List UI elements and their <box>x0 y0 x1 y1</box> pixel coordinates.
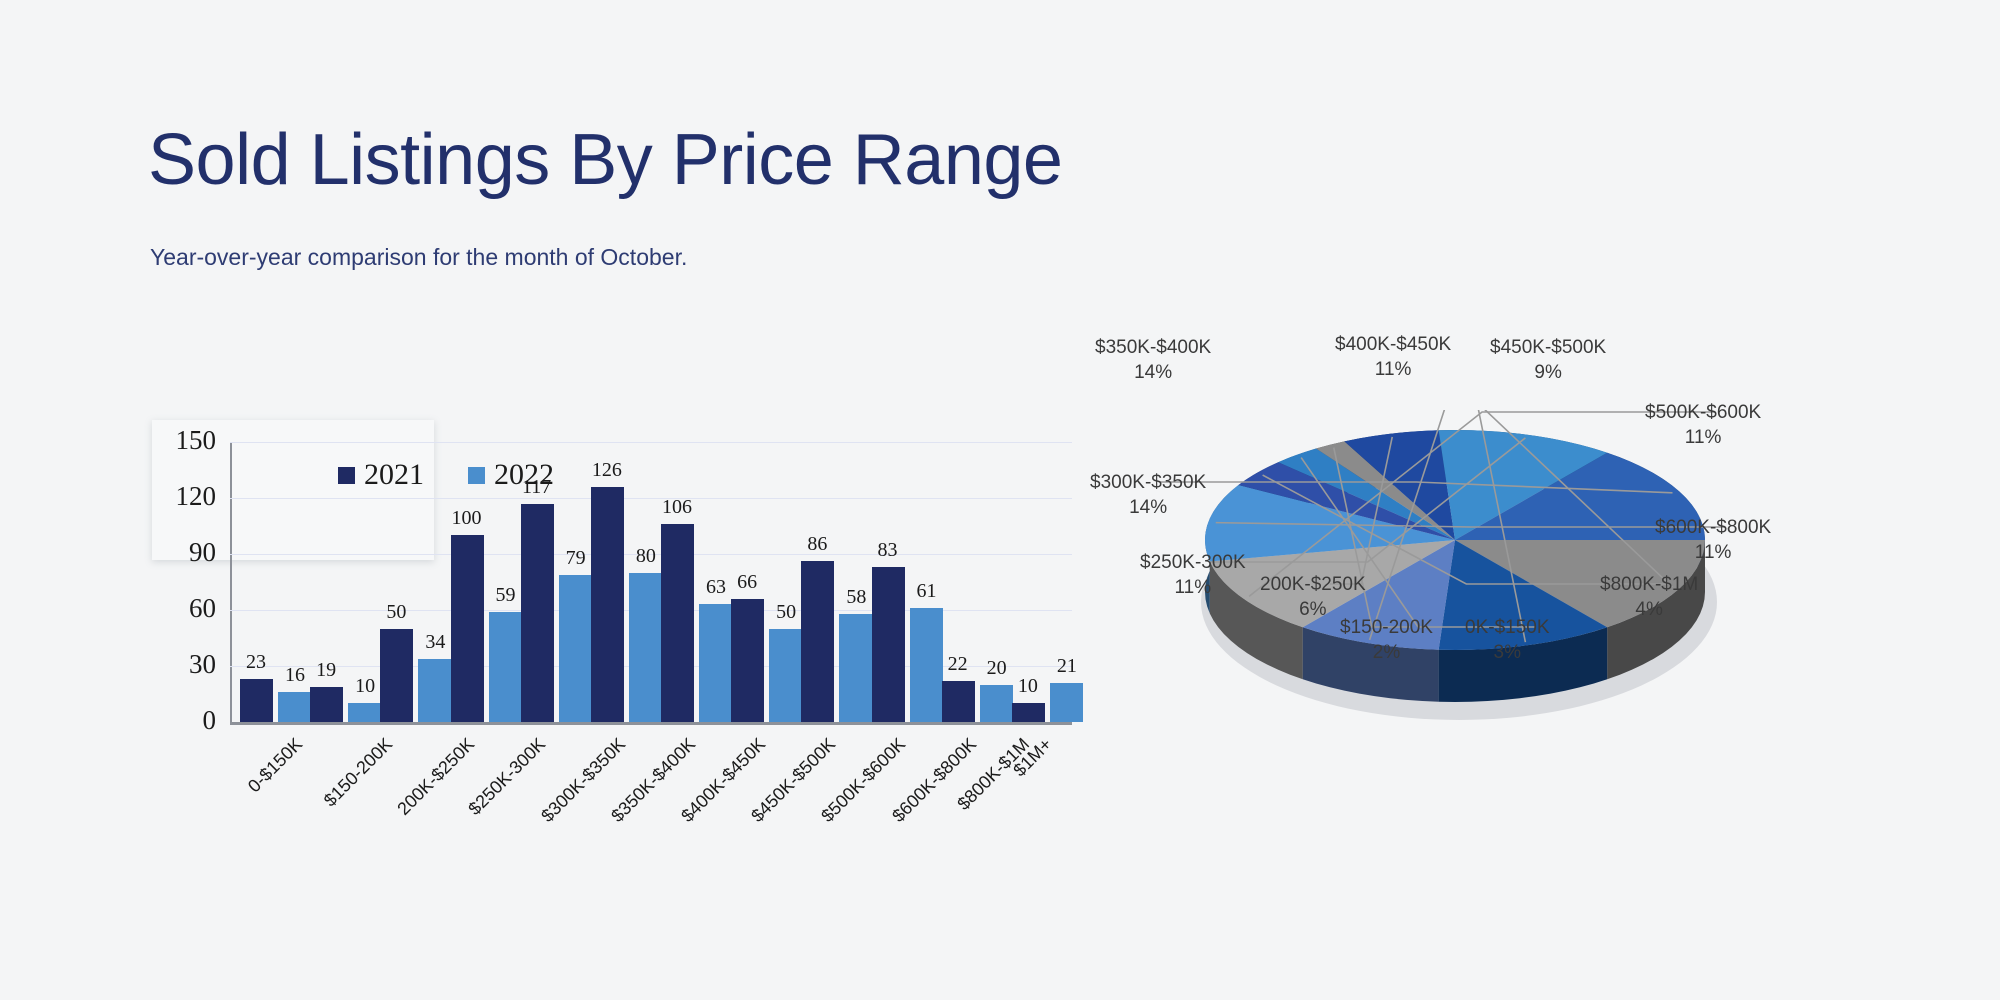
bar-2021[interactable] <box>731 599 764 722</box>
bar-2021[interactable] <box>240 679 273 722</box>
bar-2022[interactable] <box>1050 683 1083 722</box>
bar-chart-plot-area: 2021 2022 030609012015023160-$150K1910$1… <box>230 442 1072 722</box>
pie-slice-label: $250K-300K11% <box>1140 550 1246 600</box>
bar-2021[interactable] <box>591 487 624 722</box>
pie-slice-label: $150-200K2% <box>1340 615 1433 665</box>
pie-slice-label: $600K-$800K11% <box>1655 515 1771 565</box>
y-axis-tick-label: 90 <box>136 537 216 568</box>
pie-slice-label: $300K-$350K14% <box>1090 470 1206 520</box>
bar-group: 11779$300K-$350K <box>517 442 587 722</box>
bar-2021[interactable] <box>942 681 975 722</box>
pie-leader-line <box>1160 482 1672 493</box>
bar-group: 23160-$150K <box>236 442 306 722</box>
page-subtitle: Year-over-year comparison for the month … <box>150 244 687 271</box>
x-axis-line <box>230 722 1072 725</box>
pie-slice-label: $450K-$500K9% <box>1490 335 1606 385</box>
bar-value-label: 106 <box>654 496 700 519</box>
pie-slice-label-name: $400K-$450K <box>1335 334 1451 355</box>
bar-group: 10059$250K-300K <box>447 442 517 722</box>
pie-slice-label-value: 11% <box>1645 425 1761 450</box>
bar-value-label: 50 <box>373 601 419 624</box>
pie-slice-label-value: 14% <box>1090 495 1206 520</box>
bar-2021[interactable] <box>661 524 694 722</box>
pie-slice-label: 200K-$250K6% <box>1260 572 1366 622</box>
pie-slice-label-name: $350K-$400K <box>1095 337 1211 358</box>
bar-2021[interactable] <box>380 629 413 722</box>
bar-chart: 2021 2022 030609012015023160-$150K1910$1… <box>152 420 1072 880</box>
bar-group: 12680$350K-$400K <box>587 442 657 722</box>
pie-slice-label-name: $600K-$800K <box>1655 517 1771 538</box>
pie-slice-label-value: 4% <box>1600 597 1698 622</box>
pie-slice-label-name: $300K-$350K <box>1090 472 1206 493</box>
pie-slice-label-name: 0K-$150K <box>1465 617 1550 638</box>
bar-group: 8361$600K-$800K <box>868 442 938 722</box>
bar-value-label: 66 <box>724 571 770 594</box>
x-axis-category-label: $150-200K <box>320 734 397 811</box>
pie-slice-label-name: $500K-$600K <box>1645 402 1761 423</box>
bar-2021[interactable] <box>451 535 484 722</box>
bar-value-label: 126 <box>584 459 630 482</box>
y-axis-tick-label: 60 <box>136 593 216 624</box>
pie-slice-label: $500K-$600K11% <box>1645 400 1761 450</box>
pie-chart: 0K-$150K3%$150-200K2%200K-$250K6%$250K-3… <box>1100 410 1980 730</box>
bar-2021[interactable] <box>521 504 554 722</box>
pie-slice-label-value: 9% <box>1490 360 1606 385</box>
bar-2021[interactable] <box>801 561 834 722</box>
y-axis-tick-label: 150 <box>136 425 216 456</box>
bar-group: 10663$400K-$450K <box>657 442 727 722</box>
pie-slice-label-value: 2% <box>1340 640 1433 665</box>
bar-group: 1910$150-200K <box>306 442 376 722</box>
pie-slice-label-value: 11% <box>1140 575 1246 600</box>
bar-group: 2220$800K-$1M <box>938 442 1008 722</box>
bar-group: 1021$1M+ <box>1008 442 1078 722</box>
pie-slice-label-name: $450K-$500K <box>1490 337 1606 358</box>
bar-group: 6650$450K-$500K <box>727 442 797 722</box>
bar-value-label: 100 <box>444 507 490 530</box>
pie-slice-label-name: 200K-$250K <box>1260 574 1366 595</box>
pie-slice-label-name: $800K-$1M <box>1600 574 1698 595</box>
pie-slice-label-value: 14% <box>1095 360 1211 385</box>
pie-slice-label: $800K-$1M4% <box>1600 572 1698 622</box>
bar-value-label: 10 <box>1005 675 1051 698</box>
pie-slice-label-value: 6% <box>1260 597 1366 622</box>
y-axis-tick-label: 0 <box>136 705 216 736</box>
pie-slice-label-value: 11% <box>1335 357 1451 382</box>
y-axis-tick-label: 30 <box>136 649 216 680</box>
bar-group: 8658$500K-$600K <box>797 442 867 722</box>
pie-slice-label: $400K-$450K11% <box>1335 332 1451 382</box>
pie-slice-label: 0K-$150K3% <box>1465 615 1550 665</box>
page-title: Sold Listings By Price Range <box>148 122 1062 198</box>
pie-leader-line <box>1210 438 1525 562</box>
y-axis-tick-label: 120 <box>136 481 216 512</box>
bar-2021[interactable] <box>1012 703 1045 722</box>
bar-2021[interactable] <box>310 687 343 722</box>
bar-value-label: 117 <box>514 476 560 499</box>
pie-slice-label-name: $250K-300K <box>1140 552 1246 573</box>
bar-value-label: 86 <box>794 533 840 556</box>
pie-slice-label: $350K-$400K14% <box>1095 335 1211 385</box>
bar-value-label: 83 <box>865 539 911 562</box>
bar-group: 5034200K-$250K <box>376 442 446 722</box>
pie-leader-line <box>1370 410 1560 640</box>
pie-slice-label-value: 3% <box>1465 640 1550 665</box>
bar-value-label: 21 <box>1044 655 1090 678</box>
pie-leader-line <box>1216 523 1725 527</box>
bar-2021[interactable] <box>872 567 905 722</box>
pie-slice-label-value: 11% <box>1655 540 1771 565</box>
y-axis-line <box>230 442 232 722</box>
x-axis-category-label: 0-$150K <box>244 734 307 797</box>
